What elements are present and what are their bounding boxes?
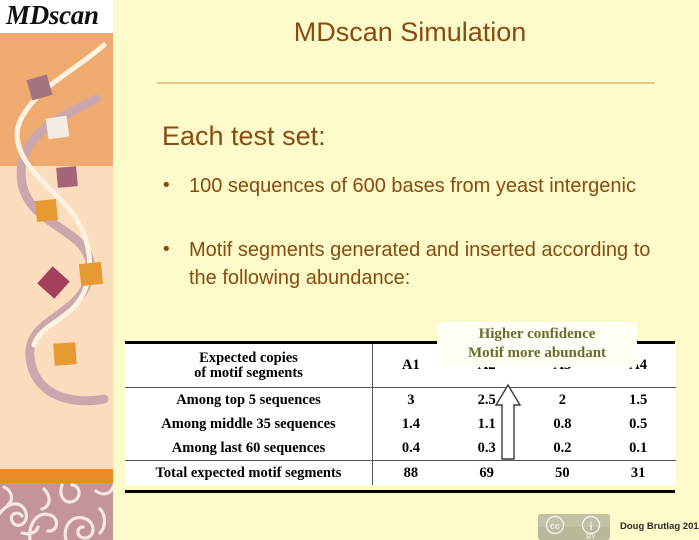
- svg-text:BY: BY: [586, 534, 596, 540]
- total-row-label: Total expected motif segments: [125, 461, 373, 486]
- callout-line2: Motif more abundant: [443, 344, 631, 363]
- decorative-sidebar: MDscan: [0, 0, 113, 540]
- table-bottom-rule: [125, 490, 675, 493]
- row-label: Among last 60 sequences: [125, 436, 373, 461]
- table-total-row: Total expected motif segments 88 69 50 3…: [125, 461, 676, 486]
- total-value: 50: [525, 461, 601, 486]
- svg-text:cc: cc: [550, 521, 560, 531]
- section-heading: Each test set:: [162, 121, 326, 152]
- bullet-item: • Motif segments generated and inserted …: [163, 236, 673, 292]
- corner-header-line2: of motif segments: [125, 366, 372, 381]
- row-label: Among middle 35 sequences: [125, 412, 373, 436]
- cell-value: 0.5: [600, 412, 676, 436]
- callout-annotation: Higher confidence Motif more abundant: [437, 322, 637, 367]
- table-row: Among last 60 sequences 0.4 0.3 0.2 0.1: [125, 436, 676, 461]
- total-value: 88: [373, 461, 449, 486]
- cell-value: 0.8: [525, 412, 601, 436]
- creative-commons-badge[interactable]: cc i BY: [538, 514, 610, 540]
- page-title: MDscan Simulation: [140, 17, 680, 48]
- cell-value: 0.1: [600, 436, 676, 461]
- author-credit: Doug Brutlag 2010: [620, 521, 699, 532]
- sidebar-logo-block: MDscan: [0, 0, 113, 33]
- sidebar-orange-divider: [0, 469, 113, 483]
- bullet-item: • 100 sequences of 600 bases from yeast …: [163, 172, 673, 200]
- table-row: Among middle 35 sequences 1.4 1.1 0.8 0.…: [125, 412, 676, 436]
- mdscan-logo: MDscan: [6, 0, 113, 33]
- row-label: Among top 5 sequences: [125, 388, 373, 413]
- cell-value: 3: [373, 388, 449, 413]
- svg-text:i: i: [589, 521, 592, 533]
- table-corner-header: Expected copies of motif segments: [125, 344, 373, 388]
- cell-value: 2: [525, 388, 601, 413]
- cell-value: 0.2: [525, 436, 601, 461]
- callout-line1: Higher confidence: [443, 325, 631, 344]
- table-row: Among top 5 sequences 3 2.5 2 1.5: [125, 388, 676, 413]
- bullet-text: Motif segments generated and inserted ac…: [189, 236, 673, 292]
- sidebar-floral-pattern: [0, 483, 113, 540]
- sidebar-ribbon-artwork: [0, 33, 113, 469]
- total-value: 31: [600, 461, 676, 486]
- bullet-dot-icon: •: [163, 236, 170, 264]
- cell-value: 1.4: [373, 412, 449, 436]
- up-arrow-icon: [494, 383, 522, 466]
- bullet-text: 100 sequences of 600 bases from yeast in…: [189, 172, 673, 200]
- slide-canvas: MDscan MDscan Simulation Each test set: …: [0, 0, 699, 540]
- corner-header-line1: Expected copies: [125, 351, 372, 366]
- cell-value: 0.4: [373, 436, 449, 461]
- cell-value: 1.5: [600, 388, 676, 413]
- bullet-dot-icon: •: [163, 172, 170, 200]
- title-divider: [157, 82, 655, 84]
